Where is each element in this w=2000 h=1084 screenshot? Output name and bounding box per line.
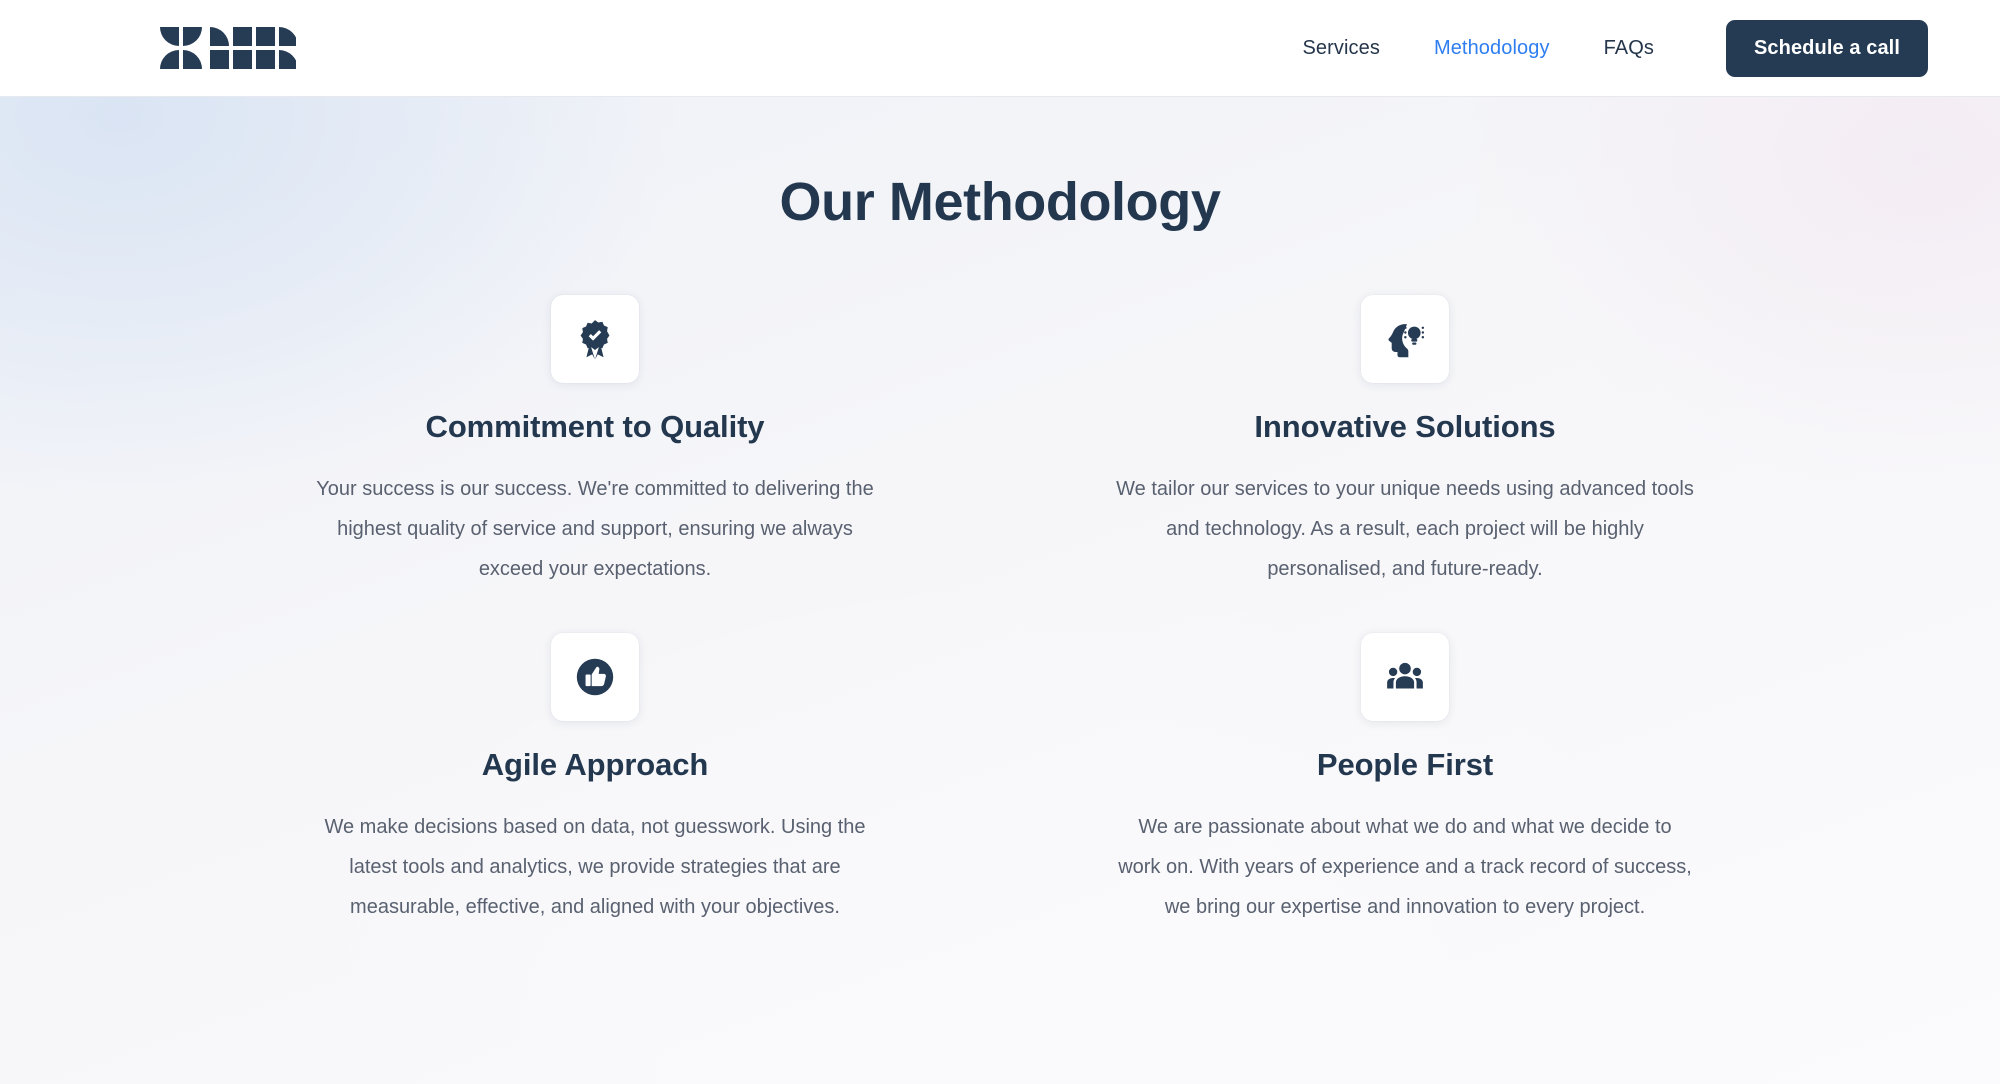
- methodology-card-grid: Commitment to Quality Your success is ou…: [220, 233, 1780, 927]
- methodology-card: Innovative Solutions We tailor our servi…: [1030, 295, 1780, 589]
- card-title: Commitment to Quality: [426, 409, 765, 445]
- nav-link-methodology[interactable]: Methodology: [1407, 37, 1577, 60]
- methodology-card: Agile Approach We make decisions based o…: [220, 633, 970, 927]
- people-group-icon: [1384, 656, 1426, 698]
- card-description: Your success is our success. We're commi…: [305, 469, 885, 589]
- methodology-section: Our Methodology Commitment to Quality Yo…: [0, 97, 2000, 1084]
- nav-link-services[interactable]: Services: [1275, 37, 1407, 60]
- methodology-card: Commitment to Quality Your success is ou…: [220, 295, 970, 589]
- logo-link[interactable]: [160, 27, 296, 69]
- head-lightbulb-icon: [1384, 318, 1426, 360]
- site-header: Services Methodology FAQs Schedule a cal…: [0, 0, 2000, 97]
- page-title: Our Methodology: [0, 171, 2000, 233]
- card-description: We are passionate about what we do and w…: [1115, 807, 1695, 927]
- card-title: People First: [1317, 747, 1493, 783]
- award-badge-check-icon: [574, 318, 616, 360]
- icon-tile: [1361, 295, 1449, 383]
- icon-tile: [551, 295, 639, 383]
- card-description: We tailor our services to your unique ne…: [1115, 469, 1695, 589]
- icon-tile: [1361, 633, 1449, 721]
- xmr-logo: [160, 27, 296, 69]
- main-navigation: Services Methodology FAQs Schedule a cal…: [1275, 20, 1928, 77]
- schedule-a-call-button[interactable]: Schedule a call: [1726, 20, 1928, 77]
- card-title: Innovative Solutions: [1254, 409, 1555, 445]
- card-description: We make decisions based on data, not gue…: [305, 807, 885, 927]
- icon-tile: [551, 633, 639, 721]
- thumbs-up-circle-icon: [574, 656, 616, 698]
- nav-link-faqs[interactable]: FAQs: [1577, 37, 1681, 60]
- page-root: Services Methodology FAQs Schedule a cal…: [0, 0, 2000, 1084]
- methodology-card: People First We are passionate about wha…: [1030, 633, 1780, 927]
- card-title: Agile Approach: [482, 747, 709, 783]
